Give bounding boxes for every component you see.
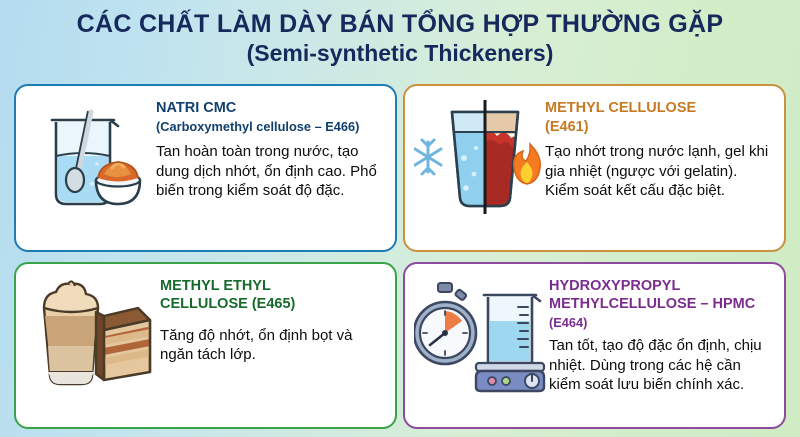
card-subheading: (Carboxymethyl cellulose – E466) [156, 119, 385, 135]
card-description: Tan hoàn toàn trong nước, tạo dung dịch … [156, 142, 385, 201]
card-heading: NATRI CMC [156, 100, 385, 118]
card-subheading-code: (E464) [549, 315, 774, 331]
stopwatch-icon [414, 283, 476, 364]
flame-icon [514, 144, 541, 184]
card-description: Tăng độ nhớt, ổn định bọt và ngăn tách l… [160, 326, 385, 365]
page-subtitle: (Semi-synthetic Thickeners) [20, 40, 780, 68]
stopwatch-and-hotplate-beaker-icon [413, 272, 549, 398]
snowflake-icon [415, 140, 441, 174]
card-natri-cmc: NATRI CMC (Carboxymethyl cellulose – E46… [14, 84, 397, 252]
card-grid: NATRI CMC (Carboxymethyl cellulose – E46… [0, 84, 800, 429]
card-heading: METHYL ETHYL [160, 278, 385, 296]
card-subheading: CELLULOSE (E465) [160, 296, 385, 314]
card-methyl-ethyl-cellulose: METHYL ETHYL CELLULOSE (E465) Tăng độ nh… [14, 262, 397, 430]
card-methyl-cellulose: METHYL CELLULOSE (E461) Tạo nhớt trong n… [403, 84, 786, 252]
card-hpmc: HYDROXYPROPYL METHYLCELLULOSE – HPMC (E4… [403, 262, 786, 430]
card-body: NATRI CMC (Carboxymethyl cellulose – E46… [156, 94, 385, 201]
card-body: METHYL CELLULOSE (E461) Tạo nhớt trong n… [545, 94, 774, 201]
card-body: HYDROXYPROPYL METHYLCELLULOSE – HPMC (E4… [549, 272, 774, 395]
infographic-root: CÁC CHẤT LÀM DÀY BÁN TỔNG HỢP THƯỜNG GẶP… [0, 0, 800, 437]
card-heading: METHYL CELLULOSE [545, 100, 774, 118]
latte-and-cake-slice-icon [24, 272, 160, 398]
card-heading: HYDROXYPROPYL [549, 278, 774, 296]
card-body: METHYL ETHYL CELLULOSE (E465) Tăng độ nh… [160, 272, 385, 365]
card-description: Tạo nhớt trong nước lạnh, gel khi gia nh… [545, 142, 774, 201]
card-description: Tan tốt, tạo độ đặc ổn định, chịu nhiệt.… [549, 336, 774, 395]
hot-cold-split-glass-icon [413, 94, 545, 220]
page-title: CÁC CHẤT LÀM DÀY BÁN TỔNG HỢP THƯỜNG GẶP [20, 10, 780, 38]
card-subheading: (E461) [545, 119, 774, 137]
header: CÁC CHẤT LÀM DÀY BÁN TỔNG HỢP THƯỜNG GẶP… [0, 0, 800, 72]
card-subheading: METHYLCELLULOSE – HPMC [549, 296, 774, 314]
beaker-with-spoon-and-sauce-bowl-icon [24, 94, 156, 220]
